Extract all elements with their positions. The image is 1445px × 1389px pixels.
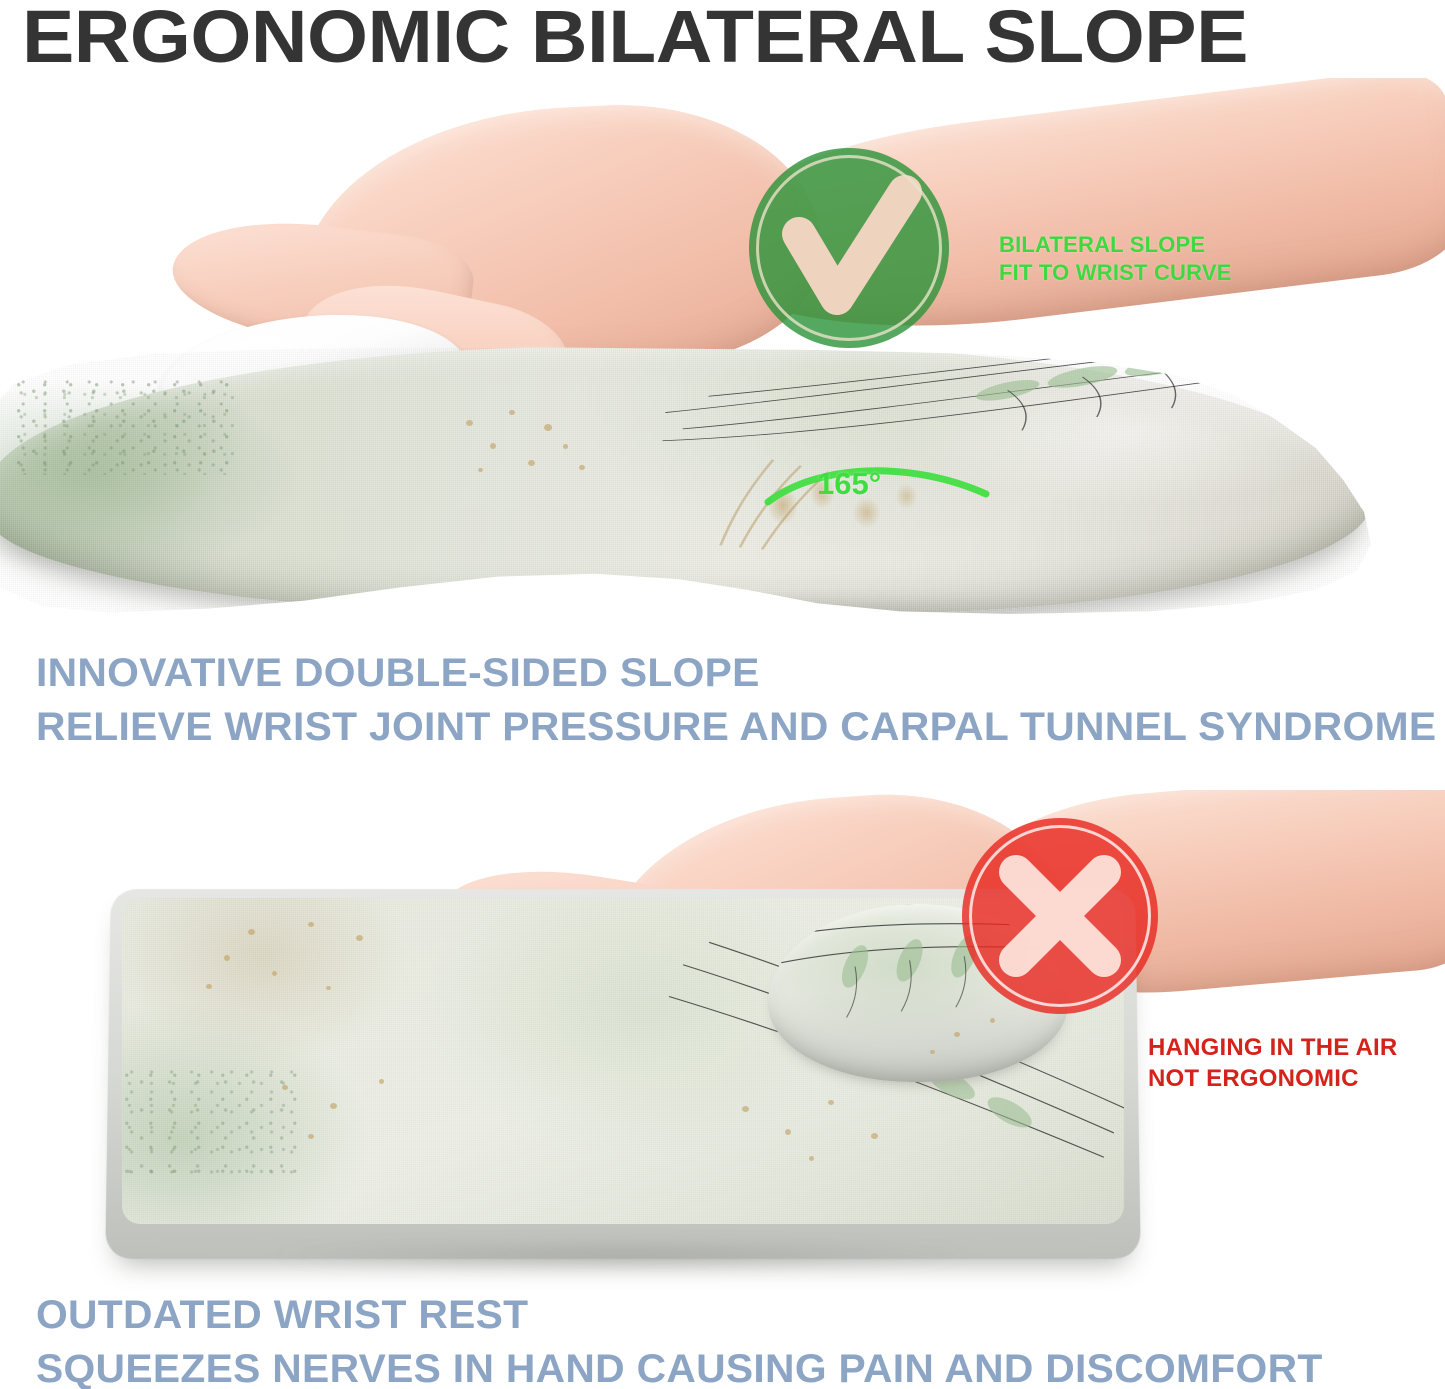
not-ergonomic-annotation: HANGING IN THE AIR NOT ERGONOMIC [1148, 1033, 1397, 1094]
ergonomic-contoured-mouse-pad [0, 346, 1371, 614]
moss-speckle-patch [122, 1068, 302, 1185]
moss-speckle-patch [14, 378, 236, 474]
annotation-line-2: FIT TO WRIST CURVE [999, 259, 1232, 287]
annotation-line-1: HANGING IN THE AIR [1148, 1033, 1397, 1064]
gold-speckle-cluster [443, 405, 637, 491]
bottom-demo-scene: HANGING IN THE AIR NOT ERGONOMIC [0, 790, 1445, 1290]
bottom-caption-line-1: OUTDATED WRIST REST [36, 1288, 1323, 1342]
angle-label: 165° [817, 466, 881, 502]
annotation-line-1: BILATERAL SLOPE [999, 231, 1232, 259]
pad-drop-shadow [14, 600, 1344, 630]
annotation-line-2: NOT ERGONOMIC [1148, 1064, 1397, 1095]
gold-speckle-cluster [182, 918, 483, 1029]
top-caption-line-2: RELIEVE WRIST JOINT PRESSURE AND CARPAL … [36, 700, 1436, 754]
page-title: ERGONOMIC BILATERAL SLOPE [22, 0, 1445, 76]
cross-glyph [962, 818, 1158, 1014]
top-caption-line-1: INNOVATIVE DOUBLE-SIDED SLOPE [36, 646, 1436, 700]
bottom-caption: OUTDATED WRIST REST SQUEEZES NERVES IN H… [36, 1288, 1323, 1389]
product-infographic: ERGONOMIC BILATERAL SLOPE [0, 0, 1445, 1389]
pad-drop-shadow [138, 1242, 1106, 1276]
top-caption: INNOVATIVE DOUBLE-SIDED SLOPE RELIEVE WR… [36, 646, 1436, 754]
top-demo-scene: 165° BILATERAL SLOPE FIT TO WRIST CURVE [0, 78, 1445, 643]
bilateral-slope-annotation: BILATERAL SLOPE FIT TO WRIST CURVE [999, 231, 1232, 287]
checkmark-circle-icon [749, 148, 949, 348]
cross-circle-icon [962, 818, 1158, 1014]
bottom-caption-line-2: SQUEEZES NERVES IN HAND CAUSING PAIN AND… [36, 1342, 1323, 1389]
gold-speckle-cluster [703, 1087, 943, 1191]
checkmark-glyph [749, 148, 949, 348]
